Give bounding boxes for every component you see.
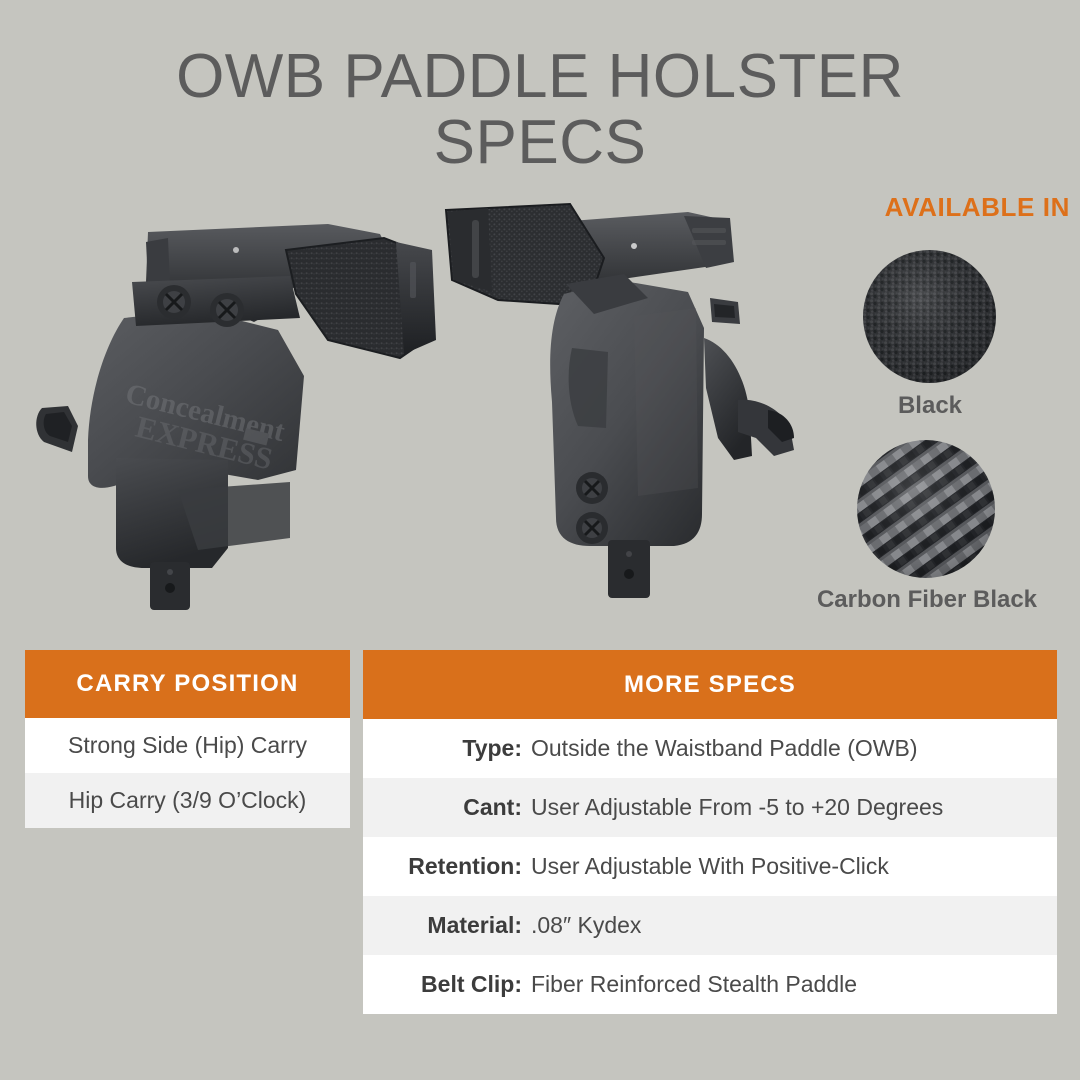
spec-value-cant: User Adjustable From -5 to +20 Degrees (531, 794, 943, 821)
spec-label-retention: Retention: (385, 853, 531, 880)
available-in-heading: AVAILABLE IN (780, 192, 1070, 223)
swatch-label-black: Black (830, 392, 1030, 420)
page-title-line-1: OWB PADDLE HOLSTER (0, 44, 1080, 110)
spec-value-belt-clip: Fiber Reinforced Stealth Paddle (531, 971, 857, 998)
carry-position-header: CARRY POSITION (25, 650, 350, 718)
more-specs-table: MORE SPECS Type: Outside the Waistband P… (363, 650, 1057, 1014)
swatch-black-texture (863, 250, 996, 383)
spec-row-material: Material: .08″ Kydex (363, 896, 1057, 955)
carry-position-table: CARRY POSITION Strong Side (Hip) Carry H… (25, 650, 350, 828)
spec-label-cant: Cant: (385, 794, 531, 821)
page-title: OWB PADDLE HOLSTER SPECS (0, 44, 1080, 176)
product-photo-group: Concealment EXPRESS (0, 180, 800, 630)
spec-row-belt-clip: Belt Clip: Fiber Reinforced Stealth Padd… (363, 955, 1057, 1014)
more-specs-header: MORE SPECS (363, 650, 1057, 719)
swatch-label-carbon-fiber-black: Carbon Fiber Black (786, 586, 1068, 614)
swatch-carbon-fiber-black[interactable] (857, 440, 995, 578)
spec-label-belt-clip: Belt Clip: (385, 971, 531, 998)
spec-label-material: Material: (385, 912, 531, 939)
swatch-carbon-fiber-texture (857, 440, 995, 578)
spec-value-material: .08″ Kydex (531, 912, 641, 939)
spec-value-retention: User Adjustable With Positive-Click (531, 853, 889, 880)
swatch-black[interactable] (863, 250, 996, 383)
spec-row-cant: Cant: User Adjustable From -5 to +20 Deg… (363, 778, 1057, 837)
available-in-panel: AVAILABLE IN (780, 192, 1072, 223)
spec-row-type: Type: Outside the Waistband Paddle (OWB) (363, 719, 1057, 778)
holster-rear-paddle-view: Concealment EXPRESS (28, 190, 448, 620)
page-title-line-2: SPECS (0, 110, 1080, 176)
carry-position-row: Strong Side (Hip) Carry (25, 718, 350, 773)
spec-label-type: Type: (385, 735, 531, 762)
carry-position-row: Hip Carry (3/9 O’Clock) (25, 773, 350, 828)
spec-value-type: Outside the Waistband Paddle (OWB) (531, 735, 918, 762)
holster-front-view (438, 188, 818, 620)
spec-row-retention: Retention: User Adjustable With Positive… (363, 837, 1057, 896)
